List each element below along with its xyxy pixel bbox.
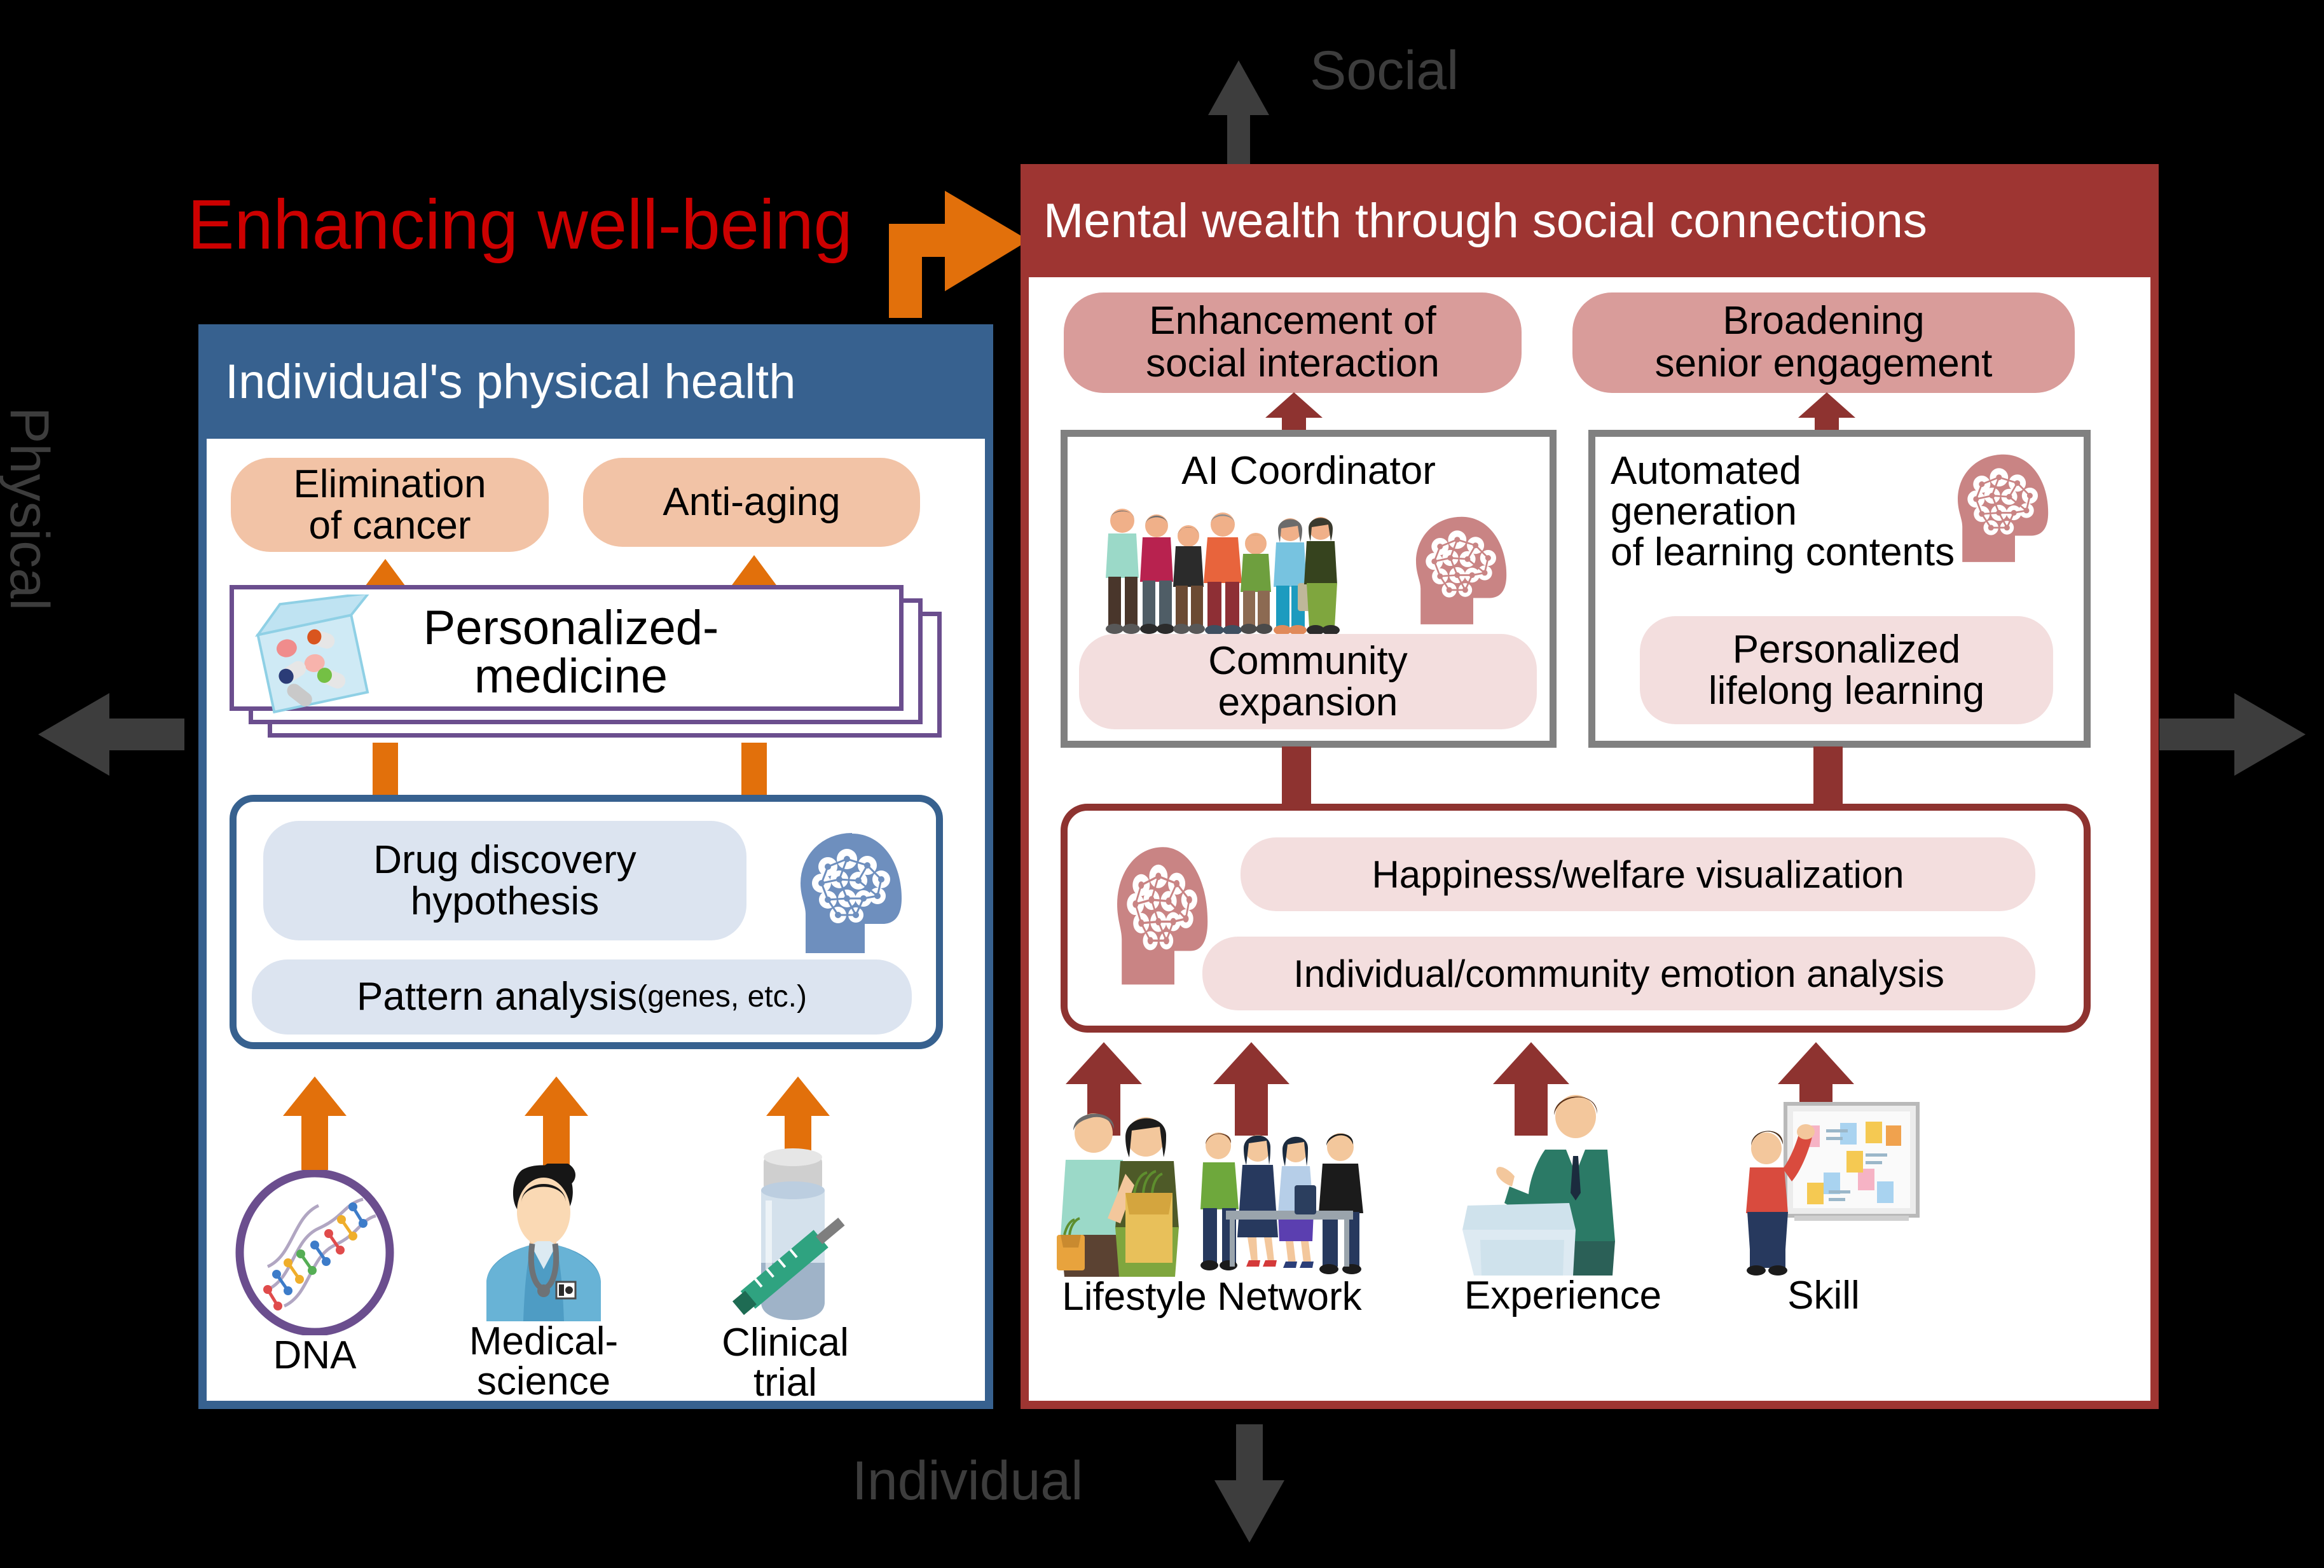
source-network: Network [1188, 1129, 1391, 1317]
pill-label: Individual/community emotion analysis [1293, 954, 1944, 994]
pill-emotion-analysis: Individual/community emotion analysis [1202, 937, 2035, 1010]
brain-head-blue-icon [788, 829, 916, 956]
capability-label: Pattern analysis [357, 976, 637, 1017]
source-experience: Experience [1448, 1085, 1677, 1316]
individual-axis-arrow-icon [1214, 1424, 1284, 1545]
pill-label: Personalized lifelong learning [1709, 629, 1984, 712]
card-stack-front: Personalized- medicine [230, 585, 904, 711]
card-line-1: Personalized- [423, 604, 719, 652]
source-caption: Clinical trial [703, 1323, 868, 1403]
brain-head-rose-icon [1946, 448, 2061, 566]
box-ai-coordinator: AI Coordinator [1061, 430, 1557, 748]
right-panel-title: Mental wealth through social connections [1021, 164, 2159, 277]
pill-label: Happiness/welfare visualization [1372, 855, 1904, 895]
axis-label-individual: Individual [852, 1450, 1083, 1513]
capability-pill-pattern-analysis: Pattern analysis (genes, etc.) [252, 959, 912, 1035]
dark-red-arrow-up-icon [1265, 390, 1323, 435]
source-caption: Medical- science [461, 1321, 626, 1401]
pill-community-expansion: Community expansion [1079, 634, 1537, 729]
brain-head-rose-icon [1405, 511, 1519, 628]
outcome-pill-social-interaction: Enhancement of social interaction [1064, 292, 1522, 393]
source-caption: DNA [232, 1335, 397, 1375]
page-title: Enhancing well-being [188, 184, 853, 265]
outcome-label: Anti-aging [663, 481, 840, 523]
source-caption: Skill [1722, 1276, 1925, 1316]
dark-red-arrow-up-icon [1813, 746, 1843, 805]
panel-individual-physical-health: Individual's physical health Elimination… [198, 324, 993, 1409]
personalized-medicine-card-stack: Personalized- medicine [230, 585, 942, 738]
outcome-pill-senior-engagement: Broadening senior engagement [1572, 292, 2075, 393]
bent-right-arrow-icon [889, 191, 1029, 318]
dark-red-arrow-up-icon [1282, 746, 1311, 805]
social-axis-arrow-icon [1208, 60, 1269, 168]
source-caption: Experience [1448, 1276, 1677, 1316]
dark-red-arrow-up-icon [1798, 390, 1855, 435]
speaker-podium-icon [1448, 1085, 1677, 1276]
box-title-ai-coordinator: AI Coordinator [1068, 451, 1550, 492]
left-panel-title: Individual's physical health [198, 324, 993, 439]
source-skill: Skill [1722, 1097, 1925, 1316]
orange-arrow-up-icon [727, 743, 781, 801]
pill-label: Community expansion [1208, 640, 1408, 723]
doctor-icon [461, 1164, 626, 1321]
orange-arrow-up-icon [525, 1075, 588, 1170]
outcome-label: Broadening senior engagement [1655, 300, 1993, 385]
axis-label-social: Social [1310, 39, 1459, 102]
pill-personalized-lifelong-learning: Personalized lifelong learning [1640, 616, 2053, 724]
pill-happiness-visualization: Happiness/welfare visualization [1241, 837, 2035, 911]
source-medical-science: Medical- science [461, 1164, 626, 1401]
left-panel-body: Elimination of cancer Anti-aging [207, 439, 985, 1401]
orange-arrow-up-icon [283, 1075, 347, 1170]
vial-syringe-icon [703, 1145, 868, 1323]
personalized-medicine-label: Personalized- medicine [234, 589, 908, 715]
orange-arrow-up-icon [358, 743, 413, 801]
networking-group-icon [1188, 1129, 1391, 1277]
crowd-people-icon [1098, 507, 1352, 634]
diagram-canvas: Social Individual Physical Enhancing wel… [0, 0, 2324, 1568]
outcome-pill-anti-aging: Anti-aging [583, 458, 920, 547]
right-panel-body: Enhancement of social interaction Broade… [1029, 277, 2150, 1401]
capability-label-suffix: (genes, etc.) [637, 981, 807, 1013]
dna-helix-icon [232, 1170, 397, 1335]
box-automated-learning: Automated generation of learning content… [1588, 430, 2091, 748]
source-dna: DNA [232, 1170, 397, 1375]
capability-box-drug-discovery: Drug discovery hypothesis Pattern analys… [230, 795, 943, 1049]
capability-label: Drug discovery hypothesis [373, 839, 636, 922]
axis-label-physical: Physical [0, 407, 60, 699]
outcome-label: Elimination of cancer [293, 464, 486, 546]
panel-mental-wealth: Mental wealth through social connections… [1021, 164, 2159, 1409]
outcome-label: Enhancement of social interaction [1146, 300, 1440, 385]
source-caption: Network [1188, 1277, 1391, 1317]
whiteboard-person-icon [1722, 1097, 1925, 1276]
outcome-pill-elimination-of-cancer: Elimination of cancer [231, 458, 549, 552]
physical-axis-arrow-icon [38, 693, 184, 776]
right-axis-arrow-icon [2159, 693, 2306, 776]
card-line-2: medicine [474, 652, 668, 701]
capability-pill-drug-discovery: Drug discovery hypothesis [263, 821, 746, 940]
source-clinical-trial: Clinical trial [703, 1145, 868, 1403]
box-emotion-analysis: Happiness/welfare visualization Individu… [1061, 804, 2091, 1033]
